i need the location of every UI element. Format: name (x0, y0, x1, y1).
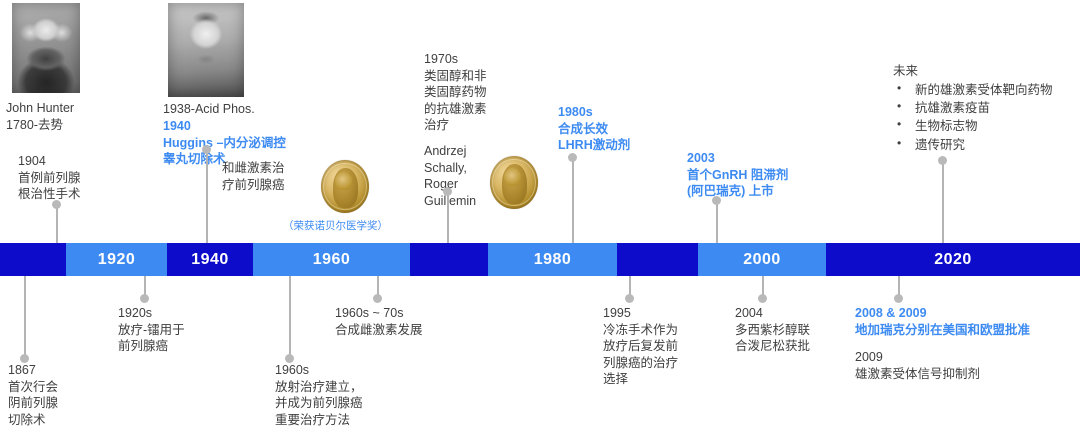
connector-stem-1867 (24, 276, 26, 358)
nobel-medal-icon-laureates (490, 156, 538, 209)
future-heading: 未来 (893, 62, 1053, 80)
connector-dot-future (938, 156, 947, 165)
medal-rim (323, 163, 366, 211)
connector-dot-1920s (140, 294, 149, 303)
timeline-segment-label: 1920 (98, 251, 136, 269)
timeline-segment (0, 243, 66, 276)
future-item: 抗雄激素疫苗 (893, 99, 1053, 117)
connector-dot-1980s (568, 153, 577, 162)
laureates-schally-guillemin: Andrzej Schally, Roger Guillemin (424, 143, 476, 209)
timeline-bar: 1920 1940 1960 1980 2000 2020 (0, 243, 1080, 276)
connector-dot-1960s-70s (373, 294, 382, 303)
portrait-john-hunter (12, 3, 80, 93)
connector-dot-1970s (443, 187, 452, 196)
event-1940-detail: 和雌激素治 疗前列腺癌 (222, 160, 285, 193)
event-2009-ar-signaling-inhibitor: 2009 雄激素受体信号抑制剂 (855, 349, 980, 382)
timeline-segment-label: 2000 (743, 251, 781, 269)
connector-stem-future (942, 161, 944, 243)
timeline-segment-label: 1940 (191, 251, 229, 269)
connector-dot-2004 (758, 294, 767, 303)
event-1867: 1867 首次行会 阴前列腺 切除术 (8, 362, 58, 428)
future-list: 新的雄激素受体靶向药物 抗雄激素疫苗 生物标志物 遗传研究 (893, 81, 1053, 154)
nobel-prize-caption: （荣获诺贝尔医学奖） (283, 218, 388, 233)
future-item: 新的雄激素受体靶向药物 (893, 81, 1053, 99)
timeline-segment-1960: 1960 (253, 243, 410, 276)
event-1980s-lhrh-agonist: 1980s 合成长效 LHRH激动剂 (558, 104, 630, 154)
connector-stem-2003 (716, 201, 718, 243)
event-1995-cryosurgery: 1995 冷冻手术作为 放疗后复发前 列腺癌的治疗 选择 (603, 305, 678, 388)
timeline-segment-label: 2020 (934, 251, 972, 269)
connector-dot-1995 (625, 294, 634, 303)
future-item: 遗传研究 (893, 136, 1053, 154)
nobel-medal-icon-huggins (321, 160, 369, 213)
connector-dot-2008 (894, 294, 903, 303)
connector-dot-2003 (712, 196, 721, 205)
event-1904: 1904 首例前列腺 根治性手术 (18, 153, 81, 203)
timeline-segment-label: 1960 (313, 251, 351, 269)
timeline-segment-1920: 1920 (66, 243, 167, 276)
timeline-segment-2020: 2020 (826, 243, 1080, 276)
event-2004-docetaxel: 2004 多西紫杉醇联 合泼尼松获批 (735, 305, 810, 355)
caption-john-hunter: John Hunter 1780-去势 (6, 100, 74, 133)
future-outlook-block: 未来 新的雄激素受体靶向药物 抗雄激素疫苗 生物标志物 遗传研究 (893, 62, 1053, 154)
event-2008-2009-degarelix: 2008 & 2009 地加瑞克分别在美国和欧盟批准 (855, 305, 1030, 338)
timeline-segment-2000: 2000 (698, 243, 826, 276)
timeline-infographic: John Hunter 1780-去势 1904 首例前列腺 根治性手术 193… (0, 0, 1080, 443)
portrait-vignette (168, 3, 244, 97)
timeline-segment-1940: 1940 (167, 243, 253, 276)
connector-stem-1904 (56, 205, 58, 243)
timeline-segment (617, 243, 698, 276)
timeline-segment-1980: 1980 (488, 243, 617, 276)
timeline-segment (410, 243, 488, 276)
connector-stem-1980s (572, 158, 574, 243)
portrait-vignette (12, 3, 80, 93)
portrait-charles-huggins (168, 3, 244, 97)
event-1970s-antiandrogen: 1970s 类固醇和非 类固醇药物 的抗雄激素 治疗 (424, 51, 487, 134)
connector-stem-1940 (206, 150, 208, 243)
event-1938-acid-phos: 1938-Acid Phos. (163, 101, 255, 118)
medal-rim (492, 159, 535, 207)
event-1960s-70s-estrogen: 1960s ~ 70s 合成雌激素发展 (335, 305, 423, 338)
event-1920s-radium: 1920s 放疗-镭用于 前列腺癌 (118, 305, 185, 355)
connector-stem-1960s (289, 276, 291, 358)
event-2003-gnrh-antagonist: 2003 首个GnRH 阻滞剂 (阿巴瑞克) 上市 (687, 150, 788, 200)
connector-dot-1904 (52, 200, 61, 209)
connector-dot-1940 (202, 145, 211, 154)
connector-stem-1970s (447, 192, 449, 243)
future-item: 生物标志物 (893, 117, 1053, 135)
timeline-segment-label: 1980 (534, 251, 572, 269)
event-1960s-radiotherapy: 1960s 放射治疗建立， 并成为前列腺癌 重要治疗方法 (275, 362, 363, 428)
